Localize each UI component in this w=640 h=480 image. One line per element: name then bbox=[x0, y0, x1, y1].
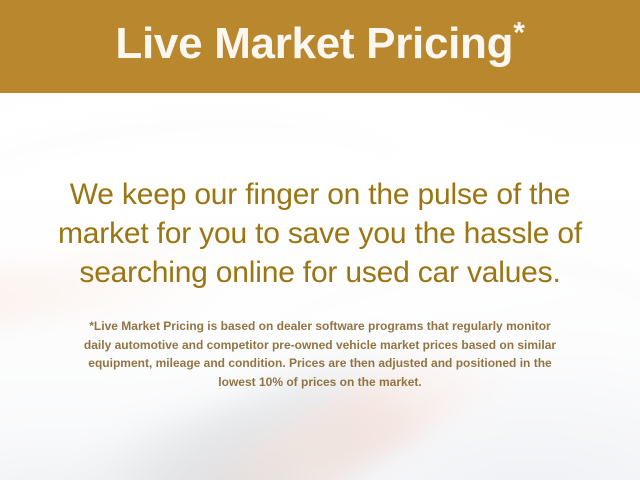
live-market-pricing-card: Live Market Pricing* We keep our finger … bbox=[0, 0, 640, 480]
disclaimer-line: *Live Market Pricing is based on dealer … bbox=[24, 317, 616, 336]
disclaimer-line: daily automotive and competitor pre-owne… bbox=[24, 336, 616, 355]
footnote-marker: * bbox=[513, 16, 524, 49]
headline-line: searching online for used car values. bbox=[18, 253, 622, 292]
content-area: We keep our finger on the pulse of the m… bbox=[0, 93, 640, 480]
header-banner: Live Market Pricing* bbox=[0, 0, 640, 93]
headline-line: market for you to save you the hassle of bbox=[18, 214, 622, 253]
disclaimer-line: equipment, mileage and condition. Prices… bbox=[24, 354, 616, 373]
headline: We keep our finger on the pulse of the m… bbox=[0, 175, 640, 292]
page-title: Live Market Pricing* bbox=[115, 22, 524, 66]
disclaimer-line: lowest 10% of prices on the market. bbox=[24, 373, 616, 392]
page-title-text: Live Market Pricing bbox=[115, 19, 513, 68]
headline-line: We keep our finger on the pulse of the bbox=[18, 175, 622, 214]
disclaimer-text: *Live Market Pricing is based on dealer … bbox=[0, 317, 640, 391]
